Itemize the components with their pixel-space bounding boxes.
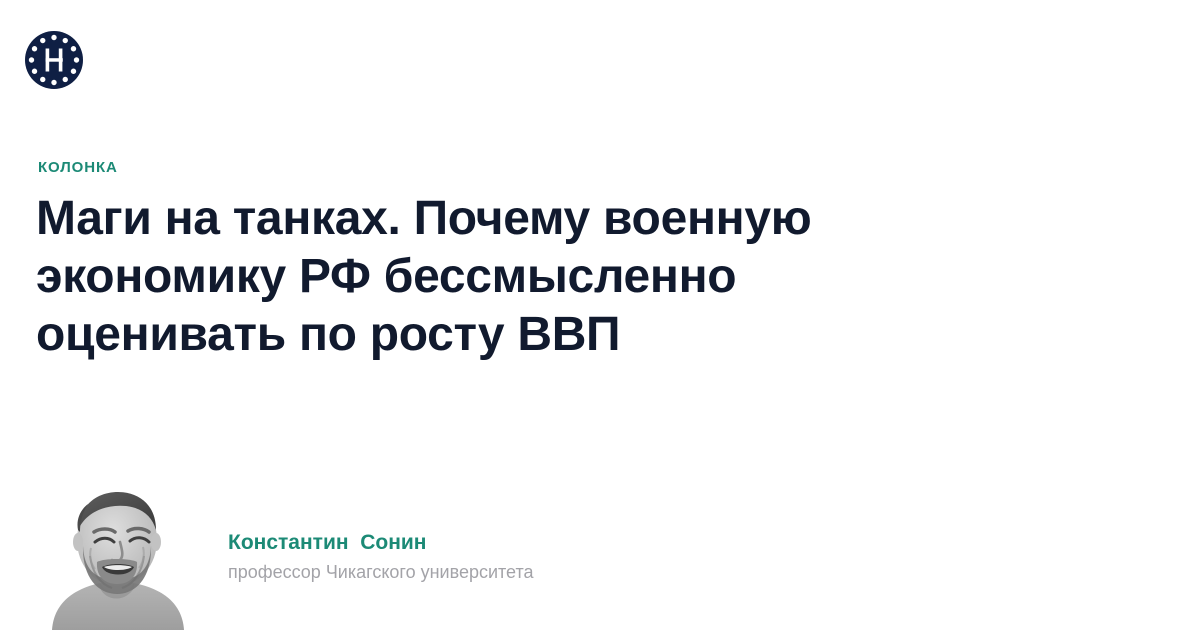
author-block: Константин Сонин профессор Чикагского ун… (42, 484, 534, 630)
headline-line-2: экономику РФ бессмысленно (36, 248, 936, 306)
novaya-gazeta-europe-logo-icon (24, 30, 84, 90)
author-text: Константин Сонин профессор Чикагского ун… (228, 484, 534, 585)
author-portrait-photo (42, 484, 190, 630)
author-name[interactable]: Константин Сонин (228, 530, 534, 556)
article-kicker[interactable]: КОЛОНКА (38, 160, 118, 175)
headline-line-1: Маги на танках. Почему военную (36, 190, 936, 248)
author-role: профессор Чикагского университета (228, 561, 534, 584)
page-title: Маги на танках. Почему военную экономику… (36, 190, 936, 364)
site-logo[interactable] (24, 30, 84, 90)
article-share-card: КОЛОНКА Маги на танках. Почему военную э… (0, 0, 1200, 630)
headline-line-3: оценивать по росту ВВП (36, 306, 936, 364)
avatar (42, 484, 190, 630)
